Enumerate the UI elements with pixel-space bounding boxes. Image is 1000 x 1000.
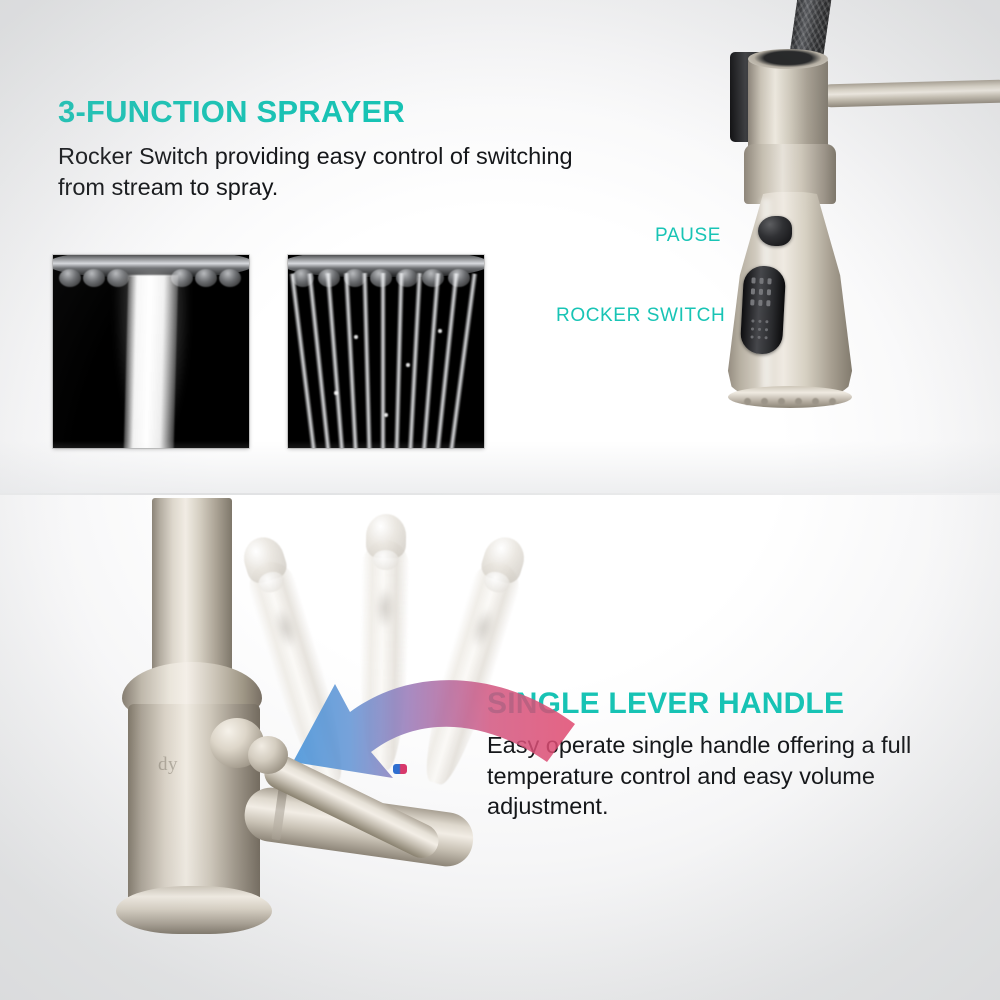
rocker-switch[interactable] bbox=[740, 265, 787, 355]
sprayer-collar bbox=[748, 56, 828, 154]
sprayer-collar-top bbox=[748, 49, 828, 69]
faucet-illustration: dy bbox=[60, 496, 560, 1000]
thumbnail-stream bbox=[53, 255, 249, 448]
faucet-arm bbox=[820, 80, 1000, 108]
faucet-column bbox=[152, 498, 232, 676]
lever-handle-knob-secondary[interactable] bbox=[248, 736, 288, 774]
faucet-brand-etching: dy bbox=[158, 754, 178, 776]
temperature-indicator-chip bbox=[393, 764, 407, 774]
faucet-base bbox=[116, 886, 272, 934]
handle-shadow bbox=[269, 604, 301, 652]
sprayer-body-text: Rocker Switch providing easy control of … bbox=[58, 141, 618, 202]
sprayer-head-illustration bbox=[700, 0, 1000, 454]
thumbnail-spray bbox=[288, 255, 484, 448]
handle-shadow bbox=[374, 586, 395, 630]
sprayer-heading: 3-FUNCTION SPRAYER bbox=[58, 94, 405, 130]
water-jets bbox=[288, 273, 484, 448]
section-divider-shadow bbox=[0, 441, 1000, 493]
pause-button[interactable] bbox=[758, 216, 792, 246]
spray-nozzle-teeth bbox=[744, 398, 836, 408]
handle-nub bbox=[372, 550, 398, 570]
water-stream bbox=[124, 275, 179, 448]
infographic-canvas: 3-FUNCTION SPRAYER Rocker Switch providi… bbox=[0, 0, 1000, 1000]
section-divider bbox=[0, 493, 1000, 495]
handle-shadow bbox=[467, 604, 499, 652]
